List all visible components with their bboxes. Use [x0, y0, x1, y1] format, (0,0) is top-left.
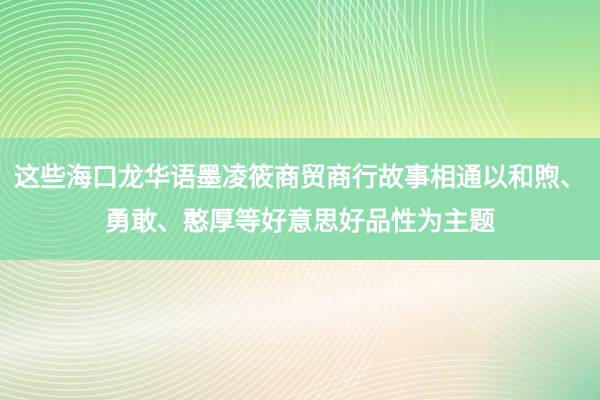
headline-line-1: 这些海口龙华语墨凌筱商贸商行故事相通以和煦、 [14, 155, 586, 199]
arc-lines-bottom-sweep-icon [0, 300, 600, 400]
promo-banner: 这些海口龙华语墨凌筱商贸商行故事相通以和煦、 勇敢、憨厚等好意思好品性为主题 [0, 0, 600, 400]
headline-band: 这些海口龙华语墨凌筱商贸商行故事相通以和煦、 勇敢、憨厚等好意思好品性为主题 [0, 138, 600, 260]
arc-lines-bottom-right-icon [250, 250, 600, 400]
headline-line-2: 勇敢、憨厚等好意思好品性为主题 [105, 199, 495, 243]
